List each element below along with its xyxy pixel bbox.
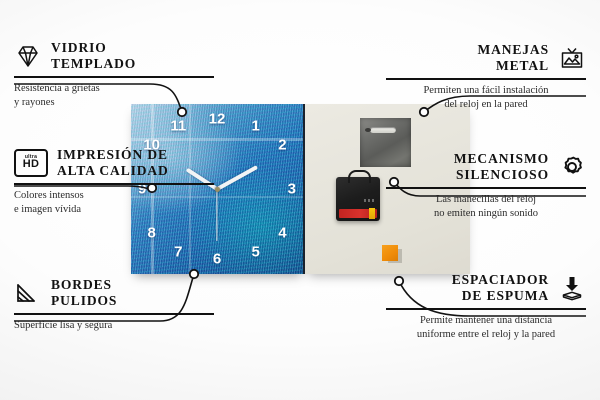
clock-numeral: 12: [209, 112, 226, 127]
clock-numeral: 4: [278, 226, 286, 241]
callout-subtitle: Permite mantener una distanciauniforme e…: [386, 314, 586, 342]
callout-title: IMPRESIÓN DEALTA CALIDAD: [57, 147, 169, 179]
polished-edges-icon: [14, 279, 42, 307]
callout-espaciador-espuma: ESPACIADORDE ESPUMA Permite mantener una…: [386, 272, 586, 342]
gear-icon: [558, 153, 586, 181]
picture-frame-icon: [558, 44, 586, 72]
callout-bordes-pulidos: BORDESPULIDOS Superficie lisa y segura: [14, 277, 214, 333]
callout-header: VIDRIOTEMPLADO: [14, 40, 214, 72]
diamond-icon: [14, 42, 42, 70]
foam-spacer-icon: [558, 274, 586, 302]
callout-header: MECANISMOSILENCIOSO: [386, 151, 586, 183]
ultra-hd-icon: ultra HD: [14, 149, 48, 177]
clock-mechanism-box: [336, 177, 380, 221]
clock-numeral: 5: [252, 245, 260, 260]
clock-numeral: 7: [174, 245, 182, 260]
callout-divider: [386, 308, 586, 310]
foam-spacer-square: [382, 245, 398, 261]
infographic-canvas: 12 1 2 3 4 5 6 7 8 9 10 11: [0, 0, 600, 400]
callout-subtitle: Superficie lisa y segura: [14, 319, 214, 333]
clock-center-cap: [215, 187, 220, 192]
clock-numeral: 6: [213, 252, 221, 267]
callout-subtitle: Colores intensose imagen vívida: [14, 189, 214, 217]
callout-manejas-metal: MANEJASMETAL Permiten una fácil instalac…: [386, 42, 586, 112]
callout-header: ultra HD IMPRESIÓN DEALTA CALIDAD: [14, 147, 214, 179]
callout-vidrio-templado: VIDRIOTEMPLADO Resistencia a grietasy ra…: [14, 40, 214, 110]
callout-divider: [14, 313, 214, 315]
clock-numeral: 8: [147, 226, 155, 241]
callout-divider: [14, 183, 214, 185]
clock-numeral: 1: [252, 119, 260, 134]
callout-title: MANEJASMETAL: [477, 42, 549, 74]
callout-header: ESPACIADORDE ESPUMA: [386, 272, 586, 304]
callout-header: MANEJASMETAL: [386, 42, 586, 74]
callout-divider: [14, 76, 214, 78]
clock-numeral: 3: [288, 182, 296, 197]
callout-header: BORDESPULIDOS: [14, 277, 214, 309]
clock-numeral: 2: [278, 138, 286, 153]
callout-title: ESPACIADORDE ESPUMA: [452, 272, 549, 304]
callout-impresion-alta-calidad: ultra HD IMPRESIÓN DEALTA CALIDAD Colore…: [14, 147, 214, 217]
callout-divider: [386, 187, 586, 189]
callout-divider: [386, 78, 586, 80]
ultra-hd-icon-main-label: HD: [23, 159, 40, 170]
callout-title: VIDRIOTEMPLADO: [51, 40, 136, 72]
callout-subtitle: Permiten una fácil instalacióndel reloj …: [386, 84, 586, 112]
callout-title: MECANISMOSILENCIOSO: [454, 151, 549, 183]
callout-subtitle: Resistencia a grietasy rayones: [14, 82, 214, 110]
clock-numeral: 11: [170, 119, 186, 134]
callout-subtitle: Las manecillas del relojno emiten ningún…: [386, 193, 586, 221]
hanger-keyhole-slot: [370, 127, 396, 133]
callout-mecanismo-silencioso: MECANISMOSILENCIOSO Las manecillas del r…: [386, 151, 586, 221]
mechanism-hanging-loop: [348, 170, 371, 183]
mechanism-label: [364, 199, 376, 202]
battery-strip: [339, 209, 377, 218]
callout-title: BORDESPULIDOS: [51, 277, 117, 309]
